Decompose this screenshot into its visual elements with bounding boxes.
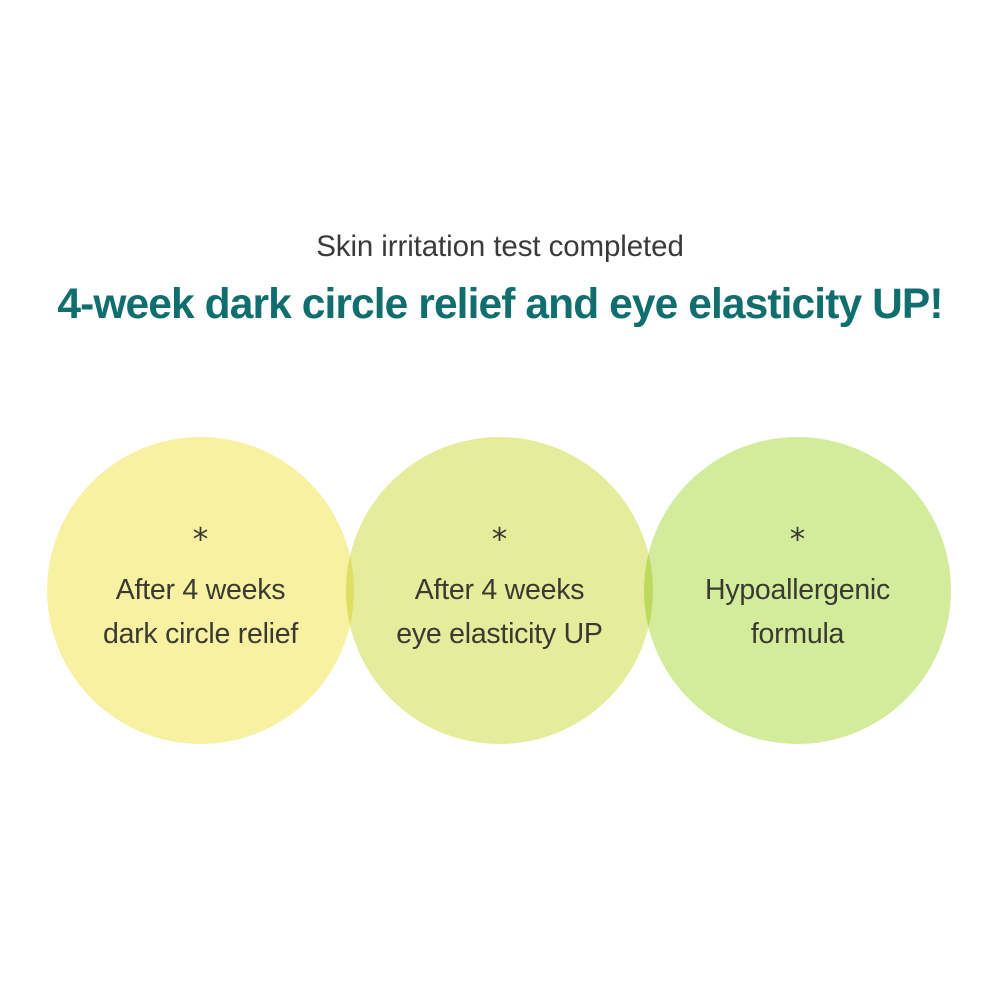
claim-line-1: After 4 weeks [116, 569, 285, 612]
claim-line-1: After 4 weeks [415, 569, 584, 612]
asterisk-icon: * [492, 525, 508, 556]
claim-label-group: * After 4 weeks dark circle relief * Aft… [0, 437, 1000, 744]
page-title: 4-week dark circle relief and eye elasti… [0, 280, 1000, 330]
asterisk-icon: * [193, 525, 209, 556]
heading-block: Skin irritation test completed 4-week da… [0, 228, 1000, 330]
claim-line-2: formula [751, 613, 844, 656]
claim-line-1: Hypoallergenic [705, 569, 890, 612]
claim-item-3: * Hypoallergenic formula [644, 437, 951, 744]
claim-item-1: * After 4 weeks dark circle relief [47, 437, 354, 744]
claim-line-2: dark circle relief [103, 613, 298, 656]
claim-item-2: * After 4 weeks eye elasticity UP [346, 437, 653, 744]
promo-poster: Skin irritation test completed 4-week da… [0, 0, 1000, 1000]
eyebrow-text: Skin irritation test completed [0, 228, 1000, 266]
asterisk-icon: * [790, 525, 806, 556]
claim-line-2: eye elasticity UP [396, 613, 602, 656]
